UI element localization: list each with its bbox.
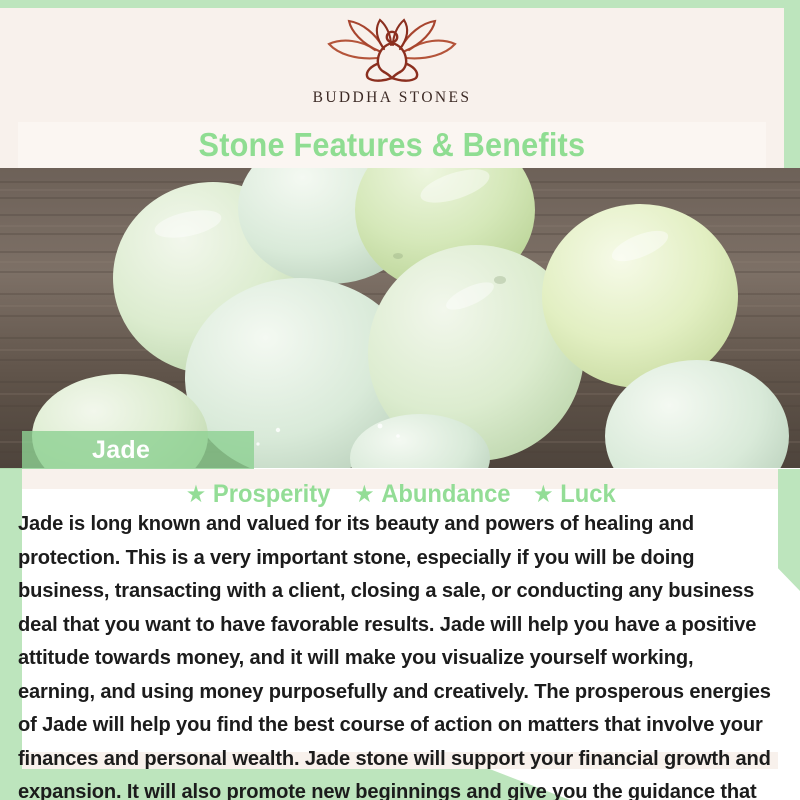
brand-logo: BUDDHA STONES: [0, 18, 784, 107]
benefit-abundance: ★ Abundance: [354, 480, 510, 509]
star-icon: ★: [533, 483, 553, 507]
star-icon: ★: [186, 483, 206, 507]
page-title: Stone Features & Benefits: [199, 126, 586, 164]
benefit-label: Abundance: [382, 480, 511, 509]
lotus-meditation-figure-icon: [318, 18, 466, 84]
star-icon: ★: [354, 483, 374, 507]
benefit-luck: ★ Luck: [533, 480, 616, 509]
benefits-row: ★ Prosperity ★ Abundance ★ Luck: [0, 480, 800, 509]
page-title-band: Stone Features & Benefits: [18, 122, 766, 168]
stone-description: Jade is long known and valued for its be…: [18, 508, 773, 800]
benefit-label: Luck: [560, 480, 615, 509]
stone-photo: [0, 168, 800, 468]
stone-name-bar: Jade: [22, 431, 254, 469]
brand-name: BUDDHA STONES: [313, 89, 472, 107]
stone-info-card: BUDDHA STONES Stone Features & Benefits: [0, 0, 800, 800]
benefit-prosperity: ★ Prosperity: [186, 480, 331, 509]
stone-photo-image: [0, 168, 800, 468]
benefit-label: Prosperity: [213, 480, 330, 509]
stone-name: Jade: [22, 436, 150, 465]
